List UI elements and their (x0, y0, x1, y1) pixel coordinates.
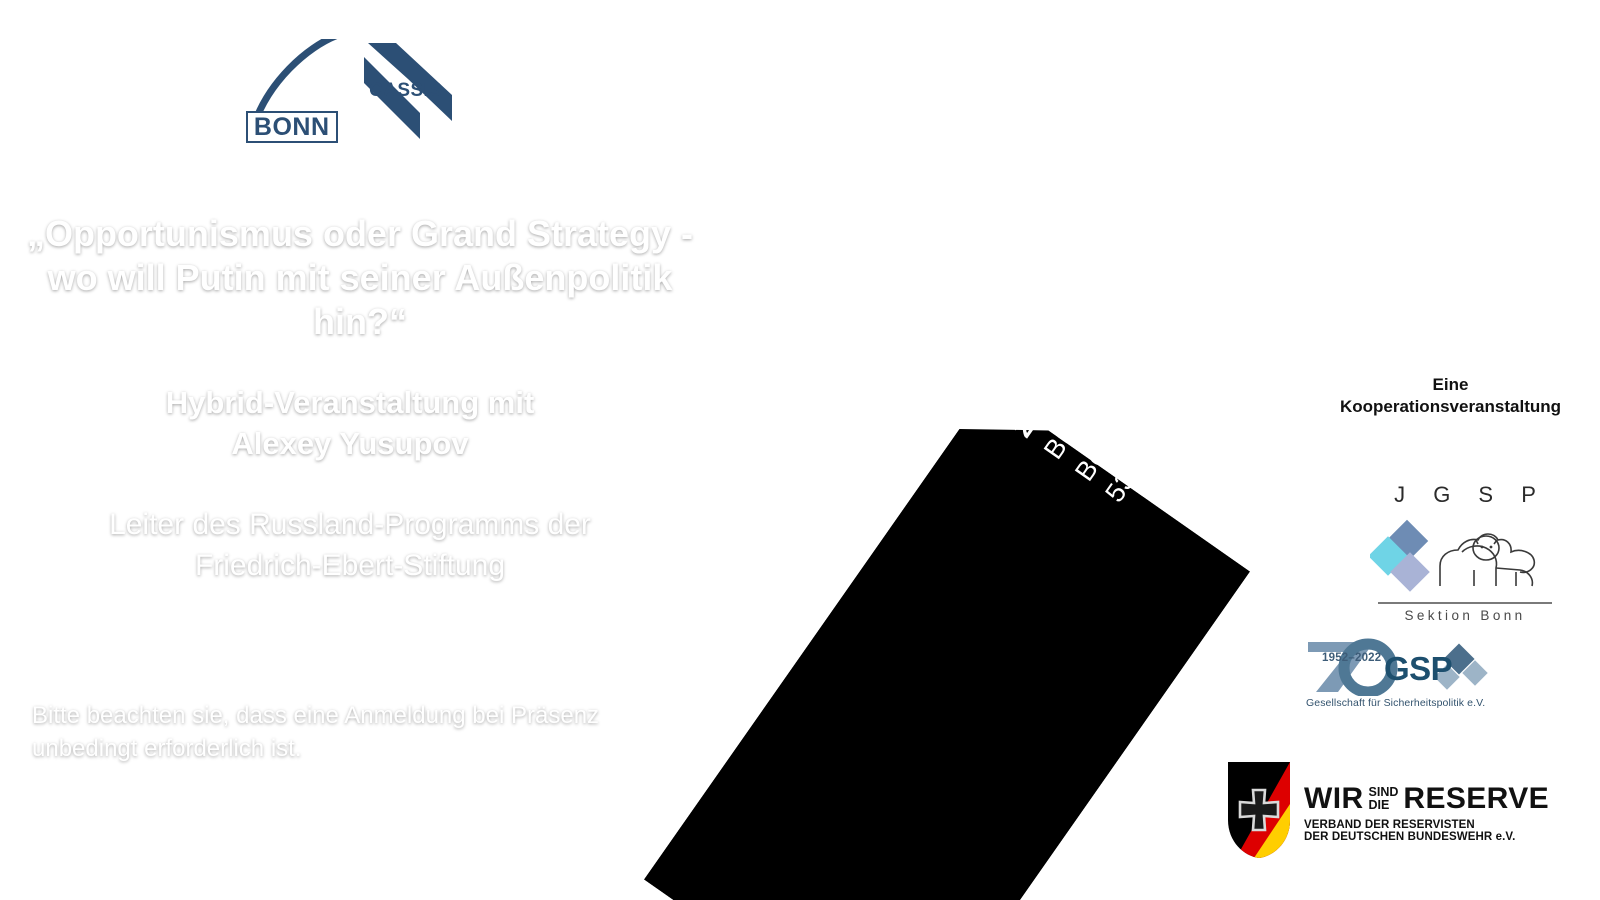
gsp-anniversary-mark: 1952–2022 GSP (1298, 634, 1494, 696)
reservisten-logo: WIR SIND DIE RESERVE VERBAND DER RESERVI… (1228, 762, 1549, 858)
gsp-years: 1952–2022 (1322, 652, 1381, 664)
gsp-acronym: GSP (1384, 650, 1452, 688)
reserve-wordmark: WIR SIND DIE RESERVE VERBAND DER RESERVI… (1304, 778, 1549, 843)
reserve-word-reserve: RESERVE (1403, 782, 1549, 816)
jgsp-lion-and-diamonds-icon (1370, 508, 1560, 600)
event-datetime: 21. November 2024 | 19:00-20:30 Uhr (1004, 0, 1355, 445)
reserve-org-line-1: VERBAND DER RESERVISTEN (1304, 819, 1549, 831)
event-poster: UNIVERSITÄT BONN CASSIS „Opportunismus o… (0, 0, 1600, 900)
banner-black-fill (644, 388, 1250, 900)
reserve-word-die: DIE (1369, 799, 1399, 812)
reserve-word-sind: SIND (1369, 786, 1399, 799)
reserve-org-line-2: DER DEUTSCHEN BUNDESWEHR e.V. (1304, 831, 1549, 843)
venue-line-3: 53123 Bonn (1098, 31, 1448, 510)
gsp-logo: 1952–2022 GSP Gesellschaft für Sicherhei… (1298, 634, 1494, 709)
cooperation-heading-line-2: Kooperationsveranstaltung (1318, 396, 1583, 418)
cooperation-heading-line-1: Eine (1318, 374, 1583, 396)
gsp-caption: Gesellschaft für Sicherheitspolitik e.V. (1298, 697, 1494, 709)
cooperation-heading: Eine Kooperationsveranstaltung (1318, 374, 1583, 418)
jgsp-section-label: Sektion Bonn (1370, 608, 1560, 623)
jgsp-logo: J G S P (1370, 482, 1560, 623)
jgsp-divider (1378, 602, 1552, 604)
reserve-word-wir: WIR (1304, 782, 1364, 816)
german-flag-shield-icon (1228, 762, 1290, 858)
reserve-word-stack: SIND DIE (1369, 786, 1399, 811)
jgsp-letters: J G S P (1381, 482, 1560, 508)
reserve-wordmark-main: WIR SIND DIE RESERVE (1304, 782, 1549, 816)
